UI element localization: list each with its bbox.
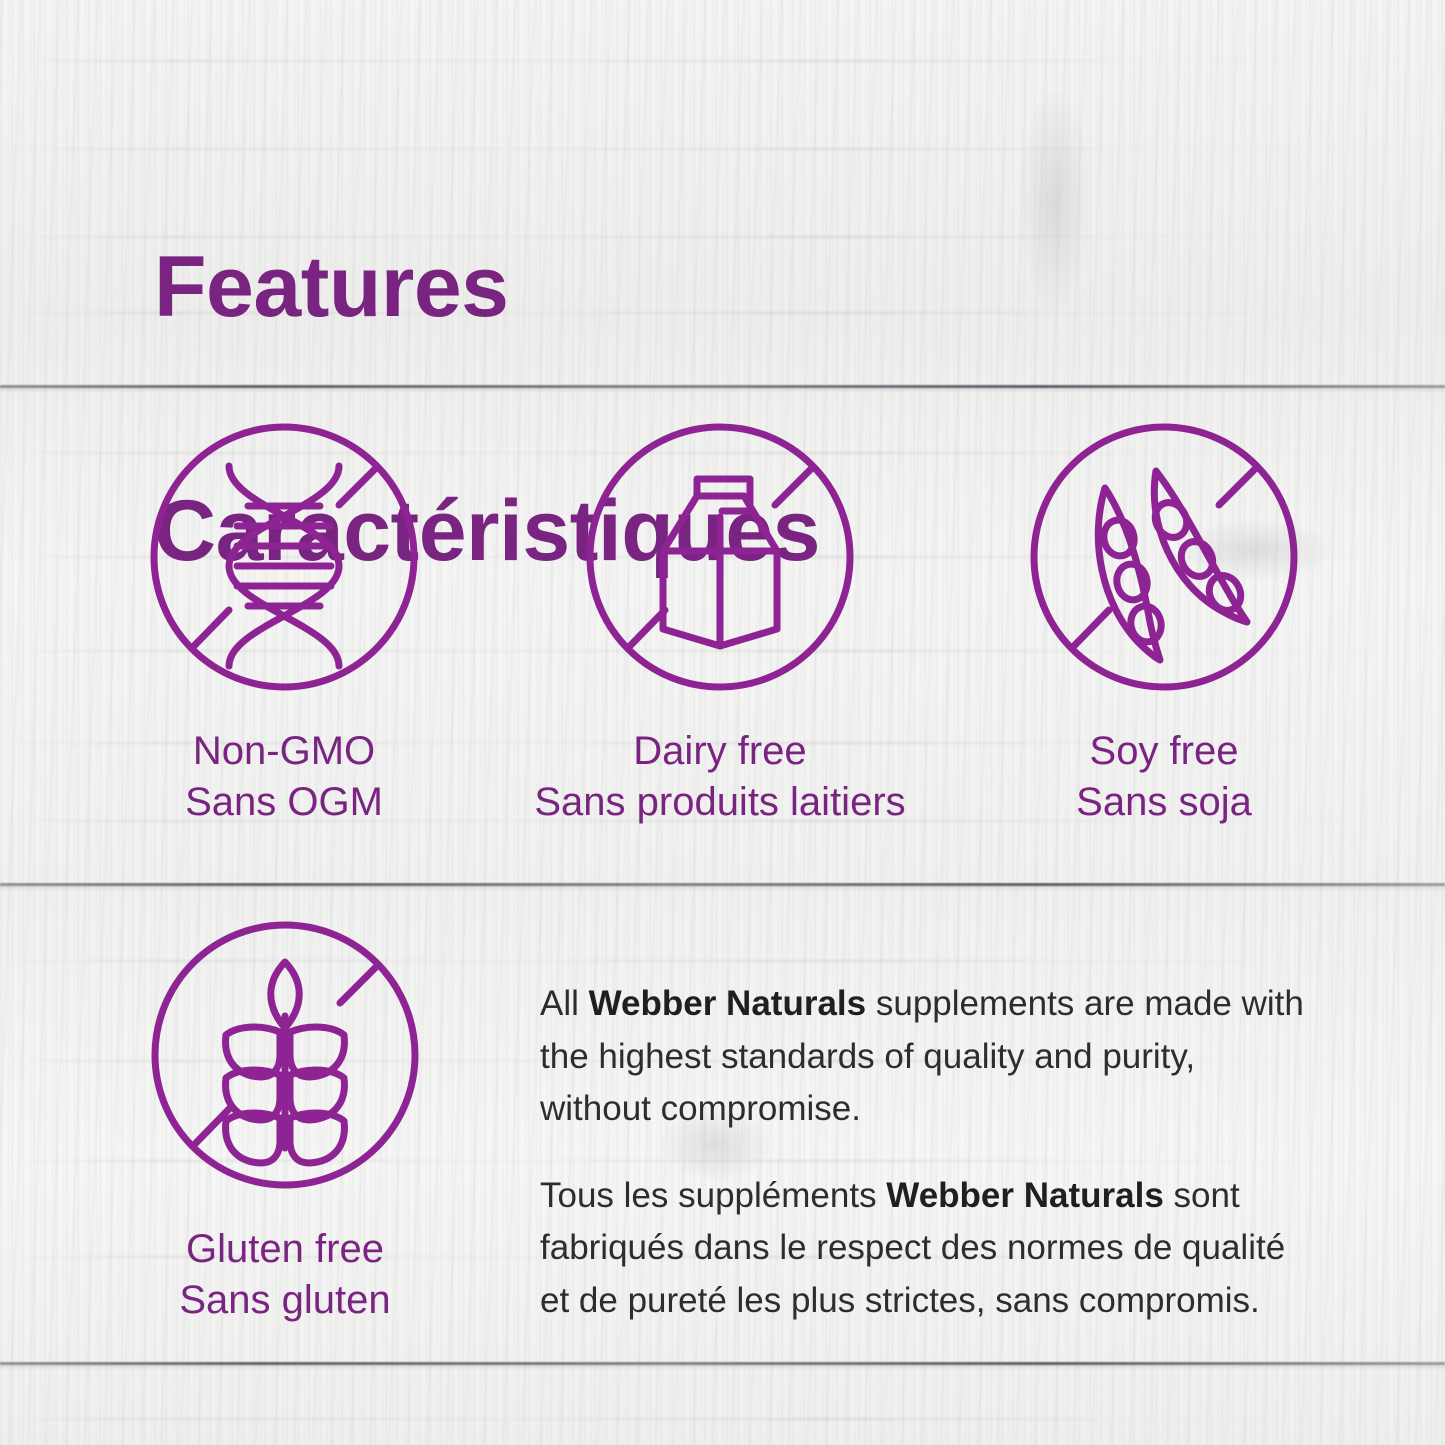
brand-statement-en: All Webber Naturals supplements are made… <box>540 978 1315 1136</box>
no-wheat-icon <box>25 918 545 1208</box>
feature-item-soy-free: Soy free Sans soja <box>904 420 1424 828</box>
plank-seam <box>0 1362 1445 1365</box>
feature-panel: Features Caractéristiques <box>0 0 1445 1445</box>
feature-label-fr: Sans soja <box>904 777 1424 828</box>
copy-fr-before: Tous les suppléments <box>540 1176 886 1215</box>
no-milk-carton-icon <box>460 420 980 710</box>
plank-seam <box>0 883 1445 886</box>
brand-statement: All Webber Naturals supplements are made… <box>540 978 1315 1327</box>
feature-label-en: Dairy free <box>460 726 980 777</box>
brand-name: Webber Naturals <box>589 984 867 1023</box>
feature-label-fr: Sans produits laitiers <box>460 777 980 828</box>
feature-item-dairy-free: Dairy free Sans produits laitiers <box>460 420 980 828</box>
brand-name: Webber Naturals <box>886 1176 1164 1215</box>
feature-label-en: Gluten free <box>25 1224 545 1275</box>
feature-caption-soy-free: Soy free Sans soja <box>904 726 1424 828</box>
no-soy-pods-icon <box>904 420 1424 710</box>
feature-caption-dairy-free: Dairy free Sans produits laitiers <box>460 726 980 828</box>
feature-label-fr: Sans gluten <box>25 1275 545 1326</box>
page-title-en: Features <box>154 226 820 348</box>
brand-statement-fr: Tous les suppléments Webber Naturals son… <box>540 1170 1315 1328</box>
copy-en-before: All <box>540 984 589 1023</box>
wood-grain-streak <box>0 60 1445 62</box>
feature-caption-gluten-free: Gluten free Sans gluten <box>25 1224 545 1326</box>
feature-item-gluten-free: Gluten free Sans gluten <box>25 918 545 1326</box>
feature-label-en: Soy free <box>904 726 1424 777</box>
wood-knot <box>1020 90 1090 310</box>
wood-grain-streak <box>0 1418 1445 1420</box>
